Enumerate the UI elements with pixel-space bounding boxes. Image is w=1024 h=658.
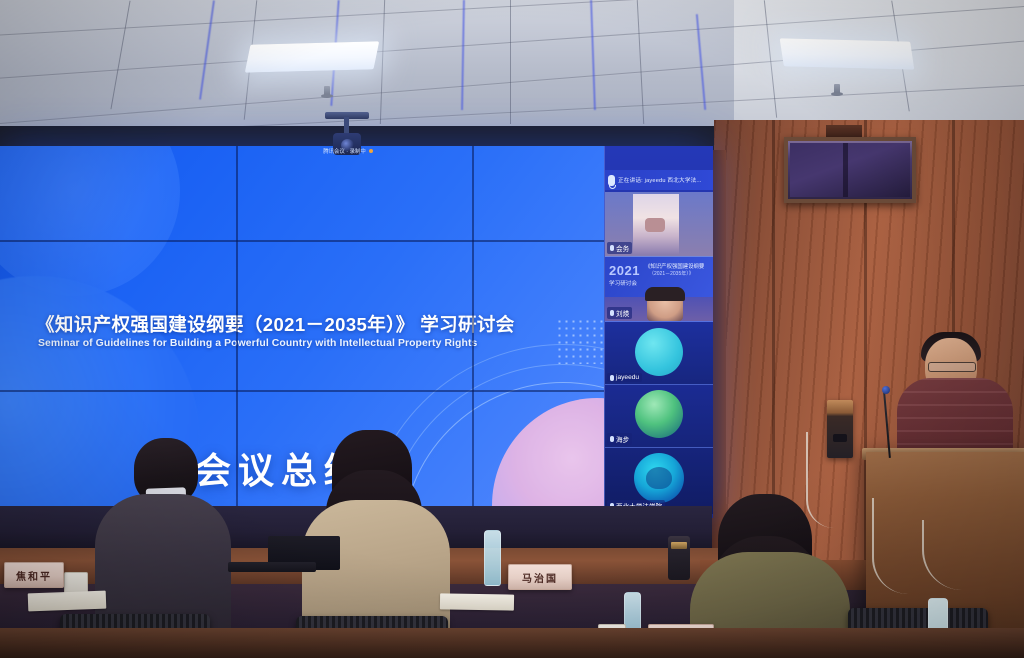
participant-avatar xyxy=(634,453,684,503)
recording-status-text: 腾讯会议 · 录制中 xyxy=(323,147,366,155)
poster-line-1: 《知识产权强国建设纲要 xyxy=(645,262,704,270)
ceiling-light-panel-right xyxy=(780,38,915,69)
participant-name-label: 刘煐 xyxy=(607,307,632,319)
document-sheet xyxy=(28,591,107,612)
podium-microphone-head xyxy=(882,386,890,394)
ceiling-blue-reflection xyxy=(461,0,465,110)
sprinkler-head-left xyxy=(324,86,330,98)
poster-line-2: （2021－2035年）》 xyxy=(649,270,694,277)
slide-main-heading: 会议总结 xyxy=(0,442,562,494)
nameplate: 焦和平 xyxy=(4,562,64,588)
participant-tile[interactable]: 会务 xyxy=(605,192,713,257)
wall-display-divider xyxy=(843,143,848,197)
videowall-bezel-vertical xyxy=(236,146,238,518)
participant-avatar xyxy=(635,328,683,376)
slide-decor-circle-top xyxy=(0,146,180,296)
wall-edge-strip xyxy=(712,150,726,550)
participant-avatar xyxy=(635,390,683,438)
eyeglasses-icon xyxy=(928,362,976,372)
participant-hair xyxy=(645,287,685,301)
wall-display-glass xyxy=(790,143,910,197)
ceiling-grid-line xyxy=(380,0,385,124)
participant-tile[interactable]: 2021 《知识产权强国建设纲要 （2021－2035年）》 学习研讨会 刘煐 xyxy=(605,257,713,322)
participant-tile[interactable]: 海步 xyxy=(605,385,713,448)
participant-video-feed xyxy=(633,194,679,254)
microphone-icon xyxy=(608,175,615,186)
active-speaker-label: 正在讲话: jayeedu 西北大学法... xyxy=(618,176,702,184)
conference-microphone-unit xyxy=(668,536,690,580)
mic-muted-icon xyxy=(610,436,614,442)
participant-tile[interactable]: jayeedu xyxy=(605,322,713,385)
wall-display-panel xyxy=(784,137,916,203)
participant-name: 刘煐 xyxy=(616,308,629,318)
nameplate-text: 马治国 xyxy=(522,570,558,585)
video-conference-sidebar[interactable]: 正在讲话: jayeedu 西北大学法... 会务 2021 《知识产权强国建设… xyxy=(604,146,713,518)
mic-muted-icon xyxy=(610,245,614,251)
active-speaker-bar: 正在讲话: jayeedu 西北大学法... xyxy=(605,170,713,190)
participant-tile[interactable]: 西北大学法学院 xyxy=(605,448,713,514)
ceiling-light-panel-left xyxy=(245,41,379,72)
document-sheet xyxy=(440,593,514,610)
cable xyxy=(806,432,834,528)
water-bottle xyxy=(484,530,501,586)
poster-year: 2021 xyxy=(609,263,640,278)
nameplate: 马治国 xyxy=(508,564,572,590)
participant-name-label: 海步 xyxy=(607,433,632,445)
slide-decor-dot-grid xyxy=(556,318,608,364)
attendee-dark-suit xyxy=(95,494,231,634)
poster-line-3: 学习研讨会 xyxy=(609,279,637,287)
participant-name: jayeedu xyxy=(616,374,639,381)
desk-laptop xyxy=(228,562,316,572)
sprinkler-head-right xyxy=(834,84,840,96)
participant-name-label: jayeedu xyxy=(607,373,642,382)
ceiling-blue-reflection xyxy=(590,0,596,110)
ceiling-blue-reflection xyxy=(199,0,215,99)
participant-name: 海步 xyxy=(616,434,629,444)
mic-muted-icon xyxy=(610,310,614,316)
recording-status-bar: 腾讯会议 · 录制中 xyxy=(312,146,384,155)
recording-indicator-icon xyxy=(369,149,373,153)
participant-name-label: 会务 xyxy=(607,242,632,254)
nameplate-text: 焦和平 xyxy=(16,568,52,583)
ceiling-grid-line xyxy=(510,0,511,124)
ceiling-grid-line xyxy=(110,1,130,110)
slide-title-en: Seminar of Guidelines for Building a Pow… xyxy=(38,338,477,349)
mic-muted-icon xyxy=(610,375,614,381)
participant-name: 会务 xyxy=(616,243,629,253)
slide-title-cn: 《知识产权强国建设纲要（2021－2035年）》 学习研讨会 xyxy=(36,311,515,337)
videowall-bezel-vertical xyxy=(472,146,474,518)
ceiling xyxy=(0,0,1024,126)
screenshot-root: 《知识产权强国建设纲要（2021－2035年）》 学习研讨会 Seminar o… xyxy=(0,0,1024,658)
foreground-table-edge xyxy=(0,628,1024,658)
